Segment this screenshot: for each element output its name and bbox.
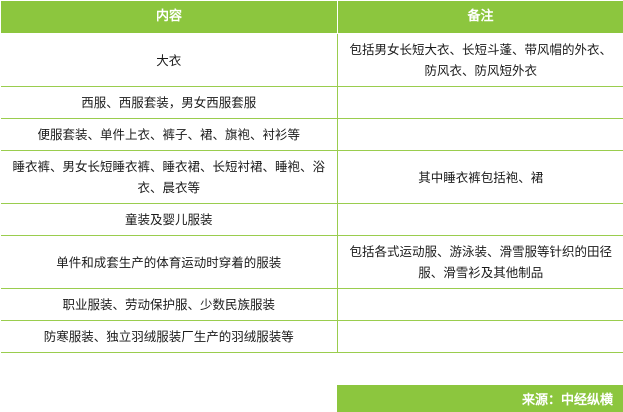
cell-note (338, 289, 623, 321)
cell-note (338, 119, 623, 151)
cell-content: 睡衣裤、男女长短睡衣裤、睡衣裙、长短衬裙、睡袍、浴衣、晨衣等 (1, 151, 338, 204)
cell-content: 西服、西服套装，男女西服套服 (1, 87, 338, 119)
table-row: 睡衣裤、男女长短睡衣裤、睡衣裙、长短衬裙、睡袍、浴衣、晨衣等 其中睡衣裤包括袍、… (1, 151, 623, 204)
cell-content: 单件和成套生产的体育运动时穿着的服装 (1, 236, 338, 289)
table-header: 内容 备注 (1, 1, 623, 34)
table-row: 防寒服装、独立羽绒服装厂生产的羽绒服装等 (1, 321, 623, 353)
table-row: 单件和成套生产的体育运动时穿着的服装 包括各式运动服、游泳装、滑雪服等针织的田径… (1, 236, 623, 289)
table-body: 大衣 包括男女长短大衣、长短斗蓬、带风帽的外衣、防风衣、防风短外衣 西服、西服套… (1, 34, 623, 353)
header-cell-content: 内容 (1, 1, 338, 34)
header-row: 内容 备注 (1, 1, 623, 34)
source-badge: 来源：中经纵横 (337, 385, 623, 412)
table-row: 大衣 包括男女长短大衣、长短斗蓬、带风帽的外衣、防风衣、防风短外衣 (1, 34, 623, 87)
cell-note: 包括各式运动服、游泳装、滑雪服等针织的田径服、滑雪衫及其他制品 (338, 236, 623, 289)
cell-note: 包括男女长短大衣、长短斗蓬、带风帽的外衣、防风衣、防风短外衣 (338, 34, 623, 87)
cell-content: 防寒服装、独立羽绒服装厂生产的羽绒服装等 (1, 321, 338, 353)
table-row: 西服、西服套装，男女西服套服 (1, 87, 623, 119)
header-cell-note: 备注 (338, 1, 623, 34)
table-row: 职业服装、劳动保护服、少数民族服装 (1, 289, 623, 321)
cell-note (338, 87, 623, 119)
clothing-category-table: 内容 备注 大衣 包括男女长短大衣、长短斗蓬、带风帽的外衣、防风衣、防风短外衣 … (0, 0, 623, 353)
cell-content: 职业服装、劳动保护服、少数民族服装 (1, 289, 338, 321)
cell-content: 童装及婴儿服装 (1, 204, 338, 236)
table-container: 内容 备注 大衣 包括男女长短大衣、长短斗蓬、带风帽的外衣、防风衣、防风短外衣 … (0, 0, 623, 412)
cell-content: 便服套装、单件上衣、裤子、裙、旗袍、衬衫等 (1, 119, 338, 151)
table-row: 便服套装、单件上衣、裤子、裙、旗袍、衬衫等 (1, 119, 623, 151)
cell-content: 大衣 (1, 34, 338, 87)
table-row: 童装及婴儿服装 (1, 204, 623, 236)
cell-note (338, 204, 623, 236)
cell-note: 其中睡衣裤包括袍、裙 (338, 151, 623, 204)
cell-note (338, 321, 623, 353)
source-label: 来源：中经纵横 (522, 389, 613, 408)
